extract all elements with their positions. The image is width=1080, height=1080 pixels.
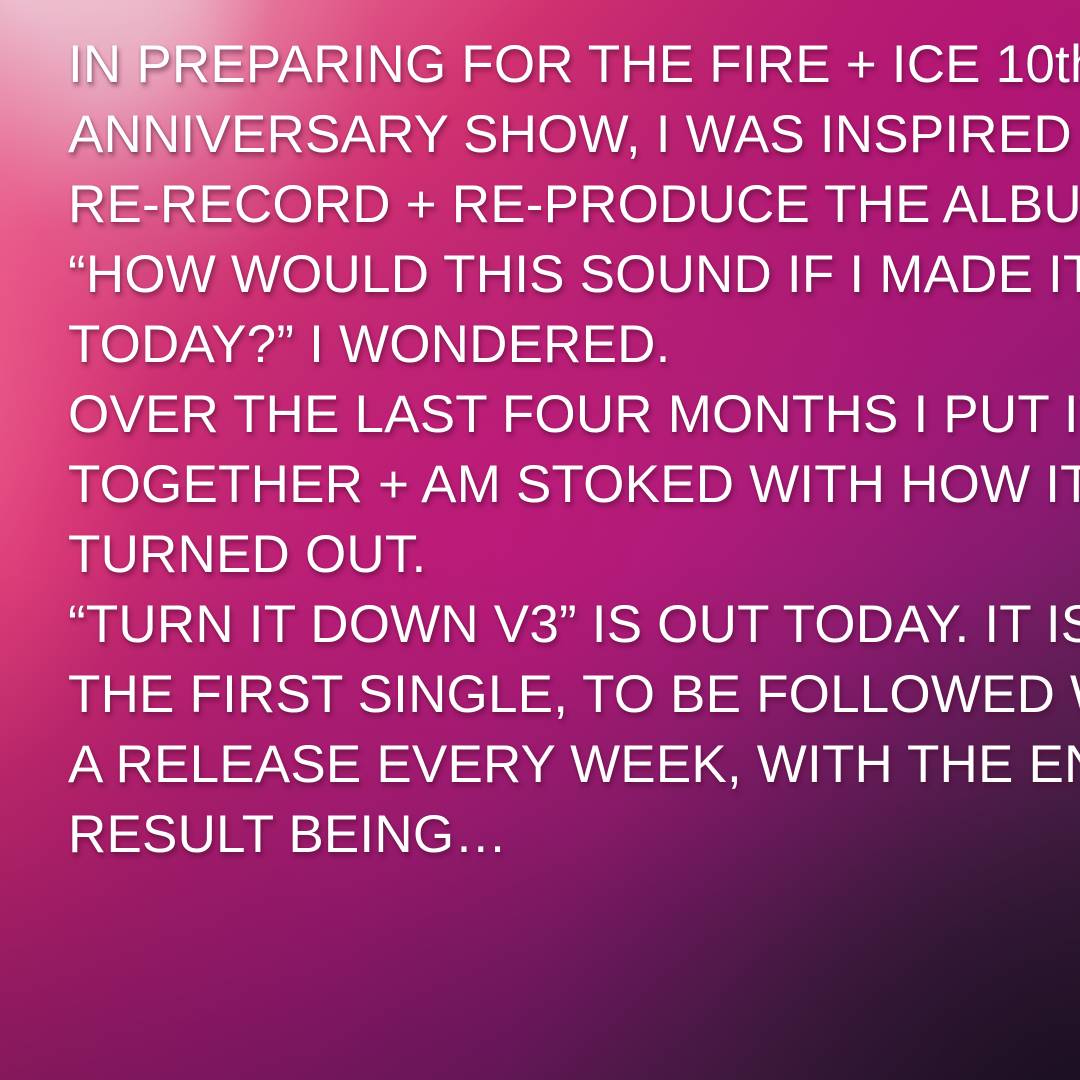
caption-line: RE-RECORD + RE-PRODUCE THE ALBUM. <box>68 170 1030 240</box>
caption-line: RESULT BEING… <box>68 800 1030 870</box>
caption-line: “TURN IT DOWN V3” IS OUT TODAY. IT IS <box>68 590 1030 660</box>
caption-line: “HOW WOULD THIS SOUND IF I MADE IT <box>68 240 1030 310</box>
caption-line: THE FIRST SINGLE, TO BE FOLLOWED WITH <box>68 660 1030 730</box>
caption-line: OVER THE LAST FOUR MONTHS I PUT IT <box>68 380 1030 450</box>
caption-line: IN PREPARING FOR THE FIRE + ICE 10th <box>68 30 1030 100</box>
caption-line: TODAY?” I WONDERED. <box>68 310 1030 380</box>
caption-text-block: IN PREPARING FOR THE FIRE + ICE 10th ANN… <box>68 30 1030 870</box>
caption-line: ANNIVERSARY SHOW, I WAS INSPIRED TO <box>68 100 1030 170</box>
caption-line: TOGETHER + AM STOKED WITH HOW IT <box>68 450 1030 520</box>
caption-line: TURNED OUT. <box>68 520 1030 590</box>
caption-line: A RELEASE EVERY WEEK, WITH THE END <box>68 730 1030 800</box>
story-card: IN PREPARING FOR THE FIRE + ICE 10th ANN… <box>0 0 1080 1080</box>
